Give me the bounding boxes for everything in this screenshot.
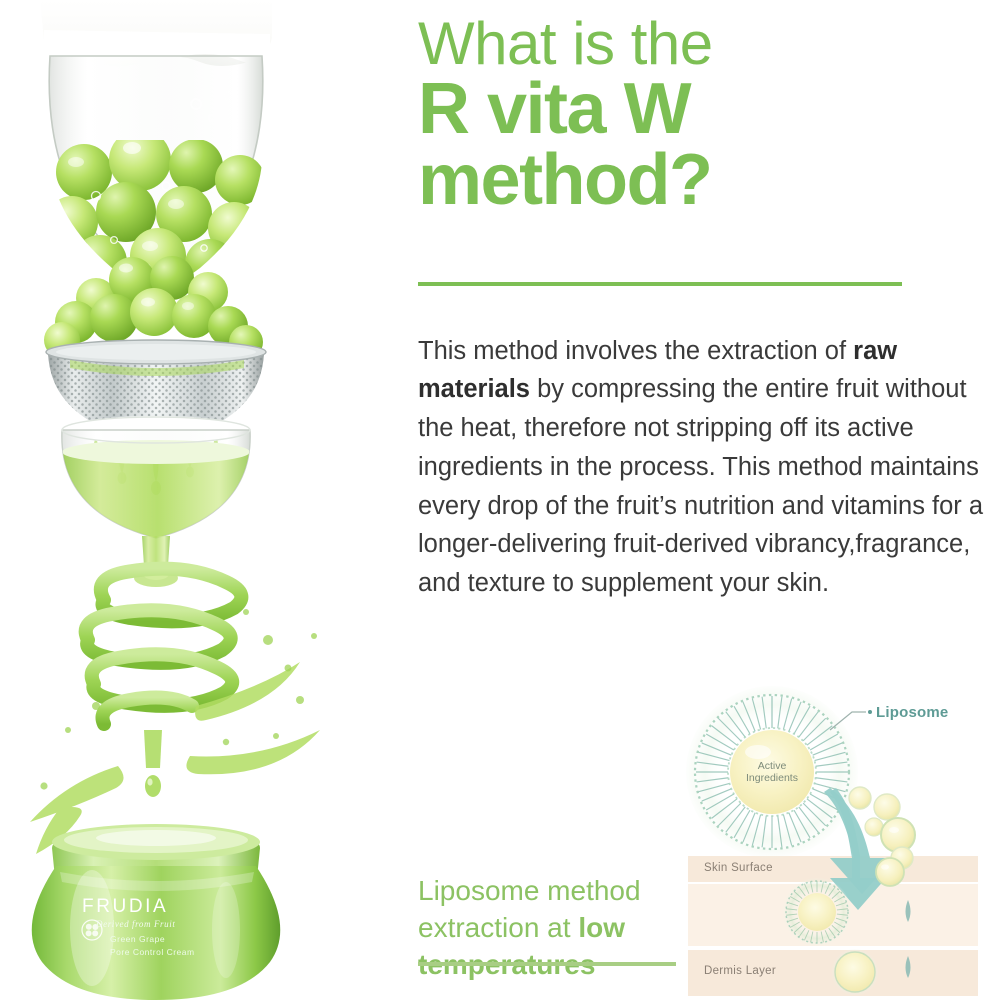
product-desc-line2: Pore Control Cream	[110, 946, 195, 958]
content-column: What is the R vita W method? This method…	[418, 0, 1000, 1000]
skin-surface-label: Skin Surface	[704, 862, 773, 874]
body-text-part-1: This method involves the extraction of	[418, 337, 853, 365]
product-brand-name: FRUDIA	[82, 896, 168, 918]
headline-line-3: method?	[418, 146, 1000, 215]
liposome-core-label-line1: Active	[758, 760, 787, 772]
liposome-label: Liposome	[876, 704, 948, 721]
liposome-core-label-line2: Ingredients	[746, 772, 798, 784]
process-illustration-svg	[0, 0, 400, 1000]
product-desc-line1: Green Grape	[110, 933, 165, 945]
liposome-diagram-svg: Active Ingredients	[680, 680, 1000, 1000]
headline-line-2: R vita W	[418, 75, 1000, 144]
body-text-part-2: by compressing the entire fruit without …	[418, 375, 983, 597]
liposome-subheading: Liposome method extraction at low temper…	[418, 873, 693, 984]
dermis-layer-label: Dermis Layer	[704, 965, 776, 977]
liposome-in-dermis	[832, 949, 878, 995]
liposome-skin-penetration-diagram: Active Ingredients	[680, 680, 1000, 1000]
liposome-in-epidermis	[783, 878, 851, 946]
product-process-illustration: FRUDIA Derived from Fruit Green Grape Po…	[0, 0, 400, 1000]
headline-line-1: What is the	[418, 15, 1000, 73]
product-tagline: Derived from Fruit	[96, 919, 175, 929]
subheading-divider	[418, 962, 676, 966]
headline-divider	[418, 282, 902, 286]
body-paragraph: This method involves the extraction of r…	[418, 332, 1000, 603]
page-title: What is the R vita W method?	[418, 15, 1000, 215]
stage-juice-bowl	[55, 416, 260, 587]
stage-spiral-coil	[30, 569, 320, 854]
